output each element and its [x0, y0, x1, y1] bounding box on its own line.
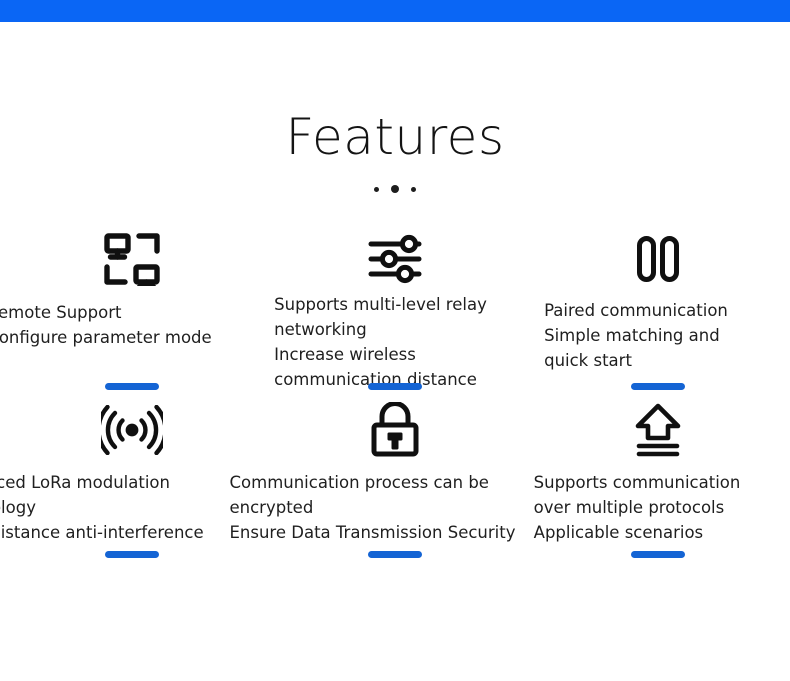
feature-line: Simple matching and: [544, 323, 728, 348]
pair-bars-icon: [635, 228, 681, 290]
feature-line: Communication process can be: [230, 470, 516, 495]
feature-grid: Remote Support Configure parameter mode: [0, 228, 790, 545]
feature-card: Remote Support Configure parameter mode: [0, 228, 263, 392]
feature-row-top: Remote Support Configure parameter mode: [0, 228, 790, 392]
feature-line: Remote Support: [0, 300, 212, 325]
padlock-icon: [369, 399, 421, 461]
feature-line: technology: [0, 495, 204, 520]
feature-line: Configure parameter mode: [0, 325, 212, 350]
feature-line: Advanced LoRa modulation: [0, 470, 204, 495]
page-title: Features: [0, 108, 790, 166]
feature-line: encrypted: [230, 495, 516, 520]
feature-line: Ensure Data Transmission Security: [230, 520, 516, 545]
feature-line: over multiple protocols: [534, 495, 741, 520]
feature-description: Advanced LoRa modulation technology Long…: [0, 470, 204, 545]
top-banner-bar: [0, 0, 790, 22]
page-heading: Features: [0, 108, 790, 194]
feature-card: Supports multi-level relay networking In…: [263, 228, 526, 392]
feature-card: Communication process can be encrypted E…: [263, 399, 526, 545]
wireless-signal-icon: [101, 399, 163, 461]
divider-dot-left: [374, 187, 379, 192]
feature-row-bottom: Advanced LoRa modulation technology Long…: [0, 399, 790, 545]
feature-line: Supports multi-level relay: [274, 292, 487, 317]
feature-line: quick start: [544, 348, 728, 373]
divider-dot-right: [411, 187, 416, 192]
feature-line: Long-distance anti-interference: [0, 520, 204, 545]
network-computers-icon: [103, 228, 161, 290]
feature-accent-underline: [631, 551, 685, 558]
heading-dot-divider: [0, 184, 790, 194]
feature-line: networking: [274, 317, 487, 342]
feature-description: Remote Support Configure parameter mode: [0, 300, 212, 350]
feature-accent-underline: [105, 383, 159, 390]
feature-card: Paired communication Simple matching and…: [526, 228, 789, 392]
upload-arrow-icon: [634, 399, 682, 461]
feature-card: Advanced LoRa modulation technology Long…: [0, 399, 263, 545]
feature-line: Applicable scenarios: [534, 520, 741, 545]
feature-accent-underline: [368, 383, 422, 390]
feature-accent-underline: [368, 551, 422, 558]
feature-description: Paired communication Simple matching and…: [544, 298, 728, 373]
feature-description: Supports multi-level relay networking In…: [274, 292, 487, 392]
feature-description: Supports communication over multiple pro…: [534, 470, 741, 545]
feature-description: Communication process can be encrypted E…: [230, 470, 516, 545]
feature-accent-underline: [105, 551, 159, 558]
feature-line: Paired communication: [544, 298, 728, 323]
sliders-settings-icon: [367, 228, 423, 290]
feature-line: Increase wireless: [274, 342, 487, 367]
divider-dot-center: [391, 185, 399, 193]
feature-line: Supports communication: [534, 470, 741, 495]
feature-card: Supports communication over multiple pro…: [526, 399, 789, 545]
feature-accent-underline: [631, 383, 685, 390]
